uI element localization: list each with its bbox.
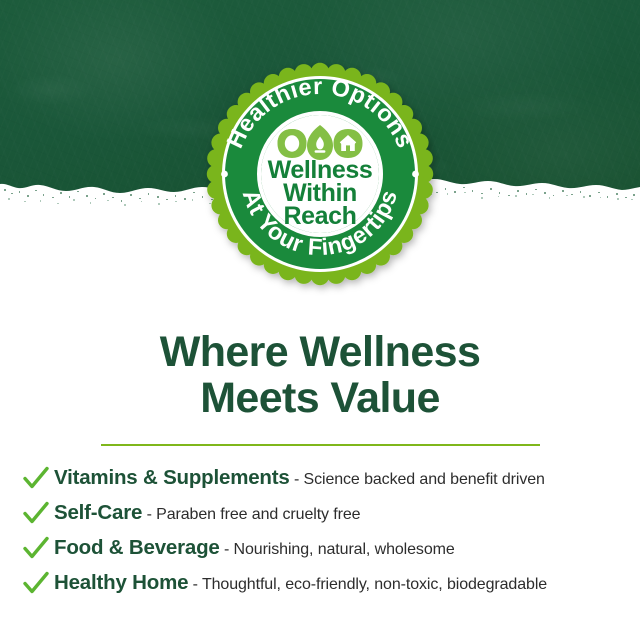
list-item-title: Food & Beverage [54, 536, 220, 559]
list-item-text: Vitamins & Supplements - Science backed … [54, 466, 545, 490]
badge-center-line-3: Reach [283, 202, 356, 230]
badge-dot-right [412, 171, 419, 178]
list-item: Vitamins & Supplements - Science backed … [22, 460, 622, 495]
leaf-pill-icon [278, 129, 307, 158]
list-item-text: Healthy Home - Thoughtful, eco-friendly,… [54, 571, 547, 595]
list-item-text: Self-Care - Paraben free and cruelty fre… [54, 501, 360, 525]
checkmark-icon [22, 569, 54, 597]
checkmark-icon [22, 464, 54, 492]
list-item: Food & Beverage - Nourishing, natural, w… [22, 530, 622, 565]
checkmark-icon [22, 534, 54, 562]
list-item-title: Vitamins & Supplements [54, 466, 290, 489]
list-item: Healthy Home - Thoughtful, eco-friendly,… [22, 565, 622, 600]
wellness-badge-seal: Healthier Options At Your Fingertips [200, 56, 440, 296]
list-item-desc: - Science backed and benefit driven [290, 471, 545, 488]
page-title: Where Wellness Meets Value [0, 329, 640, 421]
list-item-desc: - Thoughtful, eco-friendly, non-toxic, b… [188, 576, 547, 593]
list-item: Self-Care - Paraben free and cruelty fre… [22, 495, 622, 530]
headline-line-1: Where Wellness [0, 329, 640, 375]
leaf-house-icon [334, 129, 363, 158]
list-item-desc: - Nourishing, natural, wholesome [220, 541, 455, 558]
list-item-desc: - Paraben free and cruelty free [142, 506, 360, 523]
badge-dot-left [221, 171, 228, 178]
checkmark-icon [22, 499, 54, 527]
benefits-list: Vitamins & Supplements - Science backed … [22, 460, 622, 600]
divider [101, 444, 540, 446]
badge-icon-group [278, 125, 363, 160]
list-item-title: Self-Care [54, 501, 142, 524]
list-item-title: Healthy Home [54, 571, 188, 594]
promo-banner: Healthier Options At Your Fingertips [0, 0, 640, 640]
list-item-text: Food & Beverage - Nourishing, natural, w… [54, 536, 455, 560]
headline-line-2: Meets Value [0, 375, 640, 421]
